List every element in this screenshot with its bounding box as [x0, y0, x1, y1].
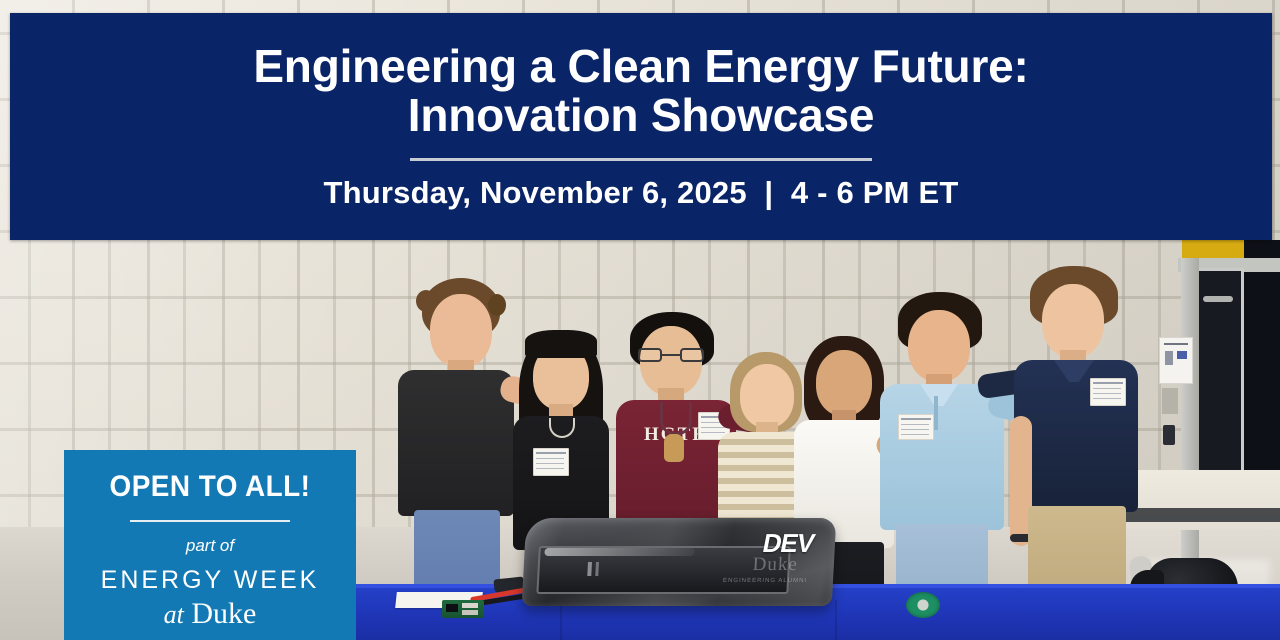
torso-black-tshirt	[398, 370, 514, 516]
tape-roll	[906, 592, 940, 618]
shell-window-glint	[544, 548, 694, 556]
window-glint	[1203, 296, 1233, 302]
badge-divider	[130, 520, 290, 522]
event-datetime: Thursday, November 6, 2025 | 4 - 6 PM ET	[324, 175, 959, 211]
hair-front	[525, 330, 597, 358]
shirt-mascot-graphic	[664, 434, 684, 462]
window-dark-panel	[1244, 240, 1280, 508]
wall-poster	[1159, 337, 1193, 384]
event-title: Engineering a Clean Energy Future: Innov…	[223, 42, 1058, 140]
energy-week-label: ENERGY WEEK	[101, 566, 320, 595]
tablecloth-fold	[560, 600, 562, 640]
glasses-icon	[638, 348, 704, 362]
name-badge	[1090, 378, 1126, 406]
shell-duke-text: Duke	[752, 554, 798, 576]
event-title-line-2: Innovation Showcase	[253, 91, 1028, 140]
open-to-all-headline: OPEN TO ALL!	[110, 470, 311, 504]
wall-plate	[1162, 388, 1178, 414]
open-to-all-badge: OPEN TO ALL! part of ENERGY WEEK at Duke	[64, 450, 356, 640]
event-title-line-1: Engineering a Clean Energy Future:	[253, 42, 1028, 91]
name-badge	[898, 414, 934, 440]
head	[740, 364, 794, 428]
event-poster: HGTR	[0, 0, 1280, 640]
head	[1042, 284, 1104, 358]
wall-switch	[1163, 425, 1175, 445]
name-badge	[533, 448, 569, 476]
shell-marking	[587, 562, 592, 576]
hair-curl-right	[488, 294, 506, 316]
circuit-board	[442, 600, 484, 618]
at-duke-label: at Duke	[164, 597, 257, 631]
at-word: at	[164, 600, 184, 629]
head	[430, 294, 492, 368]
lanyard	[660, 402, 692, 435]
part-of-label: part of	[186, 536, 234, 556]
hair-curl-left	[416, 290, 436, 312]
head	[816, 350, 872, 416]
tablecloth-fold-2	[835, 600, 837, 640]
head	[908, 310, 970, 382]
event-banner: Engineering a Clean Energy Future: Innov…	[10, 13, 1272, 240]
shell-alumni-text: ENGINEERING ALUMNI	[723, 578, 807, 584]
banner-divider	[410, 158, 872, 161]
polo-placket	[934, 396, 938, 430]
duke-wordmark: Duke	[191, 597, 256, 630]
vehicle-shell: DEV Duke ENGINEERING ALUMNI	[522, 518, 837, 606]
